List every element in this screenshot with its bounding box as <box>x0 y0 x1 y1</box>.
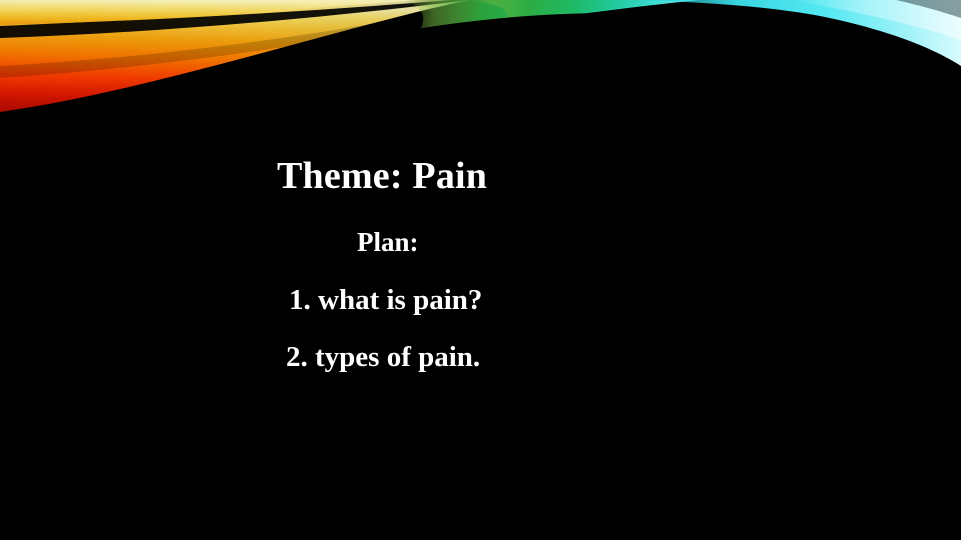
plan-item-1: 1. what is pain? <box>289 281 482 319</box>
presentation-slide: Theme: Pain Plan: 1. what is pain? 2. ty… <box>0 0 961 540</box>
plan-item-2: 2. types of pain. <box>286 338 480 376</box>
slide-title: Theme: Pain <box>277 153 487 199</box>
slide-content: Theme: Pain Plan: 1. what is pain? 2. ty… <box>0 0 961 540</box>
plan-label: Plan: <box>357 225 419 259</box>
